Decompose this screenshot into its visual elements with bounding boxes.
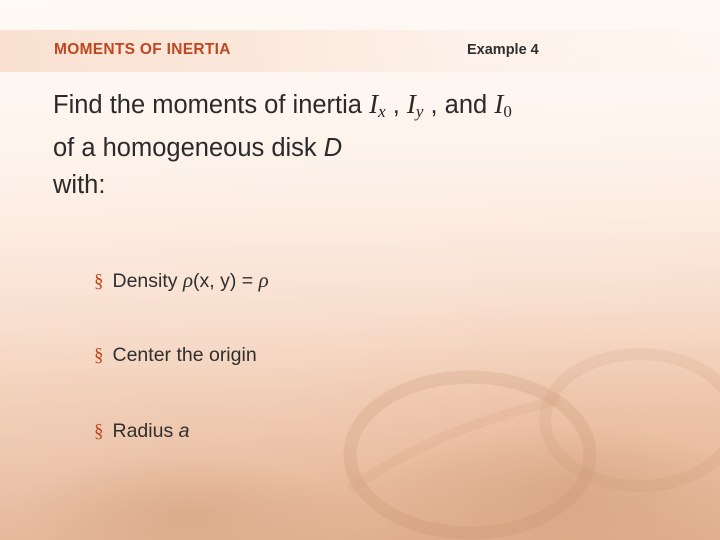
symbol-rho: ρ (183, 268, 193, 292)
example-label: Example 4 (467, 42, 539, 58)
separator-2: , and (423, 91, 494, 119)
statement-line-1-text: Find the moments of inertia (53, 91, 369, 119)
bullet-text: Density ρ(x, y) = ρ (113, 268, 269, 293)
separator-1: , (386, 91, 407, 119)
symbol-D: D (324, 134, 342, 162)
bullet-text: Radius a (113, 420, 190, 443)
problem-statement: Find the moments of inertia Ix , Iy , an… (53, 86, 693, 204)
bullet-marker-icon: § (94, 272, 104, 291)
statement-line-3: with: (53, 167, 693, 204)
symbol-Ix: I (369, 89, 378, 119)
bullet-1-label: Density (113, 270, 183, 292)
symbol-a: a (179, 420, 190, 442)
symbol-Iy: I (407, 89, 416, 119)
bullet-3-label: Radius (113, 420, 179, 442)
list-item: § Density ρ(x, y) = ρ (94, 268, 654, 344)
symbol-rho-value: ρ (259, 268, 269, 292)
statement-line-2: of a homogeneous disk D (53, 130, 693, 167)
symbol-I0: I (494, 89, 503, 119)
statement-line-1: Find the moments of inertia Ix , Iy , an… (53, 86, 693, 130)
bullet-1-args: (x, y) = (193, 270, 259, 292)
list-item: § Radius a (94, 420, 654, 496)
list-item: § Center the origin (94, 344, 654, 420)
symbol-I0-subscript: 0 (503, 102, 512, 121)
statement-line-2-text: of a homogeneous disk (53, 134, 324, 162)
section-title: MOMENTS OF INERTIA (54, 41, 231, 59)
bullet-marker-icon: § (94, 346, 104, 365)
symbol-Ix-subscript: x (378, 102, 386, 121)
bullet-list: § Density ρ(x, y) = ρ § Center the origi… (94, 268, 654, 496)
slide: MOMENTS OF INERTIA Example 4 Find the mo… (0, 0, 720, 540)
bullet-marker-icon: § (94, 422, 104, 441)
bullet-text: Center the origin (113, 344, 257, 367)
